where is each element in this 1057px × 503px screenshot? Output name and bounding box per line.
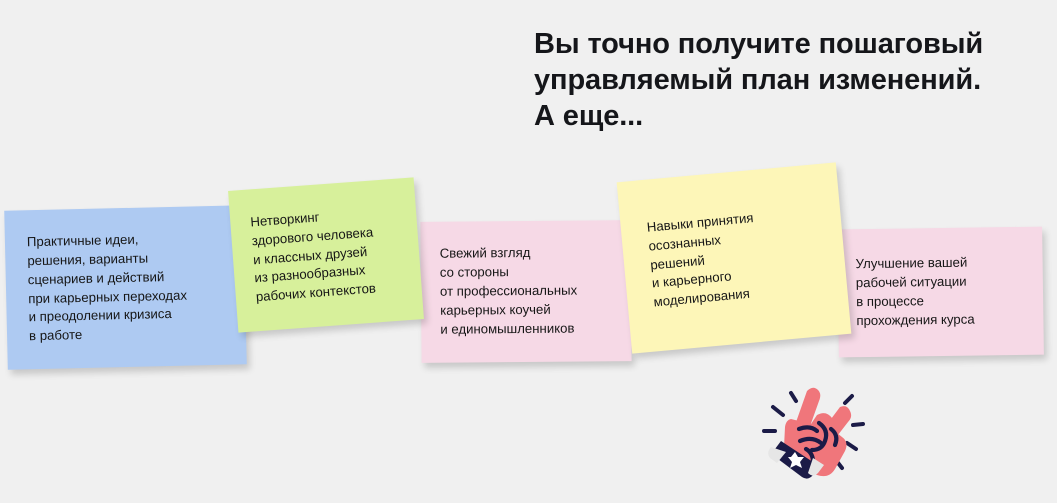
headline-line-1: Вы точно получите пошаговый <box>534 26 1034 62</box>
benefit-card-pink-second-text: Улучшение вашей рабочей ситуации в проце… <box>855 253 1035 331</box>
benefit-card-yellow-text: Навыки принятия осознанных решений и кар… <box>646 202 838 313</box>
headline-line-2: управляемый план изменений. <box>534 62 1034 98</box>
benefit-card-yellow: Навыки принятия осознанных решений и кар… <box>617 162 852 353</box>
benefit-card-green-text: Нетворкинг здорового человека и классных… <box>250 202 414 308</box>
benefit-card-pink-first: Свежий взгляд со стороны от профессионал… <box>420 220 631 363</box>
rock-on-hand-icon <box>757 377 869 481</box>
benefit-card-green: Нетворкинг здорового человека и классных… <box>228 177 424 332</box>
benefit-card-blue-text: Практичные идеи, решения, варианты сцена… <box>27 228 231 346</box>
headline-line-3: А еще... <box>534 98 1034 134</box>
benefit-card-pink-first-text: Свежий взгляд со стороны от профессионал… <box>440 243 624 339</box>
benefit-card-pink-second: Улучшение вашей рабочей ситуации в проце… <box>837 227 1044 358</box>
page-title: Вы точно получите пошаговый управляемый … <box>534 26 1034 134</box>
benefit-card-blue: Практичные идеи, решения, варианты сцена… <box>4 205 247 369</box>
slide-canvas: Вы точно получите пошаговый управляемый … <box>0 0 1057 503</box>
